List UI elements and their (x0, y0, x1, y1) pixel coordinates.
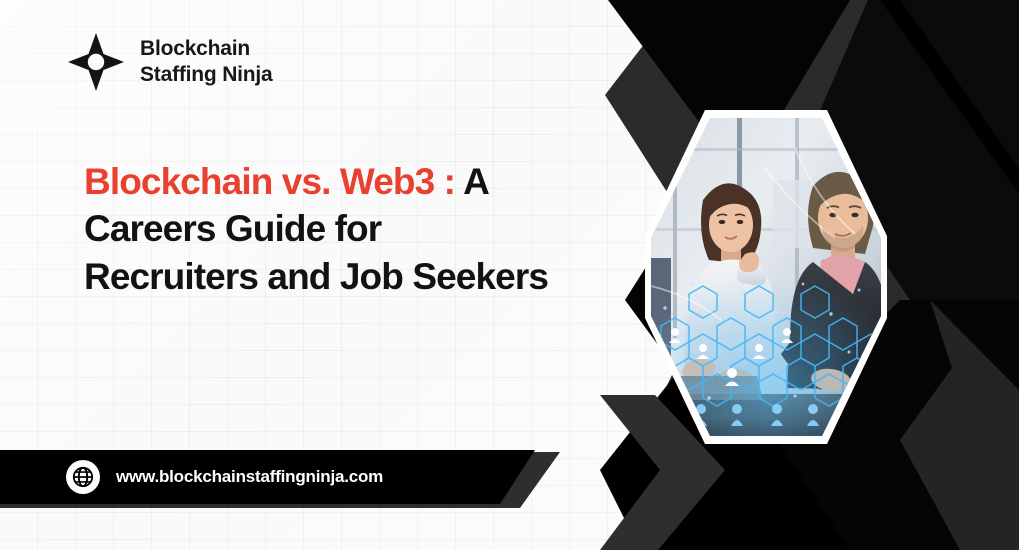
globe-icon (66, 460, 100, 494)
brand-name: Blockchain Staffing Ninja (140, 36, 273, 87)
globe-glyph (72, 466, 94, 488)
promo-banner: Blockchain Staffing Ninja Blockchain vs.… (0, 0, 1019, 550)
shuriken-star-icon (68, 33, 124, 91)
headline-accent: Blockchain vs. Web3 : (84, 161, 455, 202)
brand-logo[interactable]: Blockchain Staffing Ninja (68, 33, 273, 91)
footer-content: www.blockchainstaffingninja.com (0, 450, 383, 504)
photo-content (645, 108, 887, 446)
hero-photo-hexagon (645, 108, 887, 446)
website-url[interactable]: www.blockchainstaffingninja.com (116, 467, 383, 487)
hexagon-photo-svg (645, 108, 887, 446)
page-title: Blockchain vs. Web3 : A Careers Guide fo… (84, 158, 554, 300)
